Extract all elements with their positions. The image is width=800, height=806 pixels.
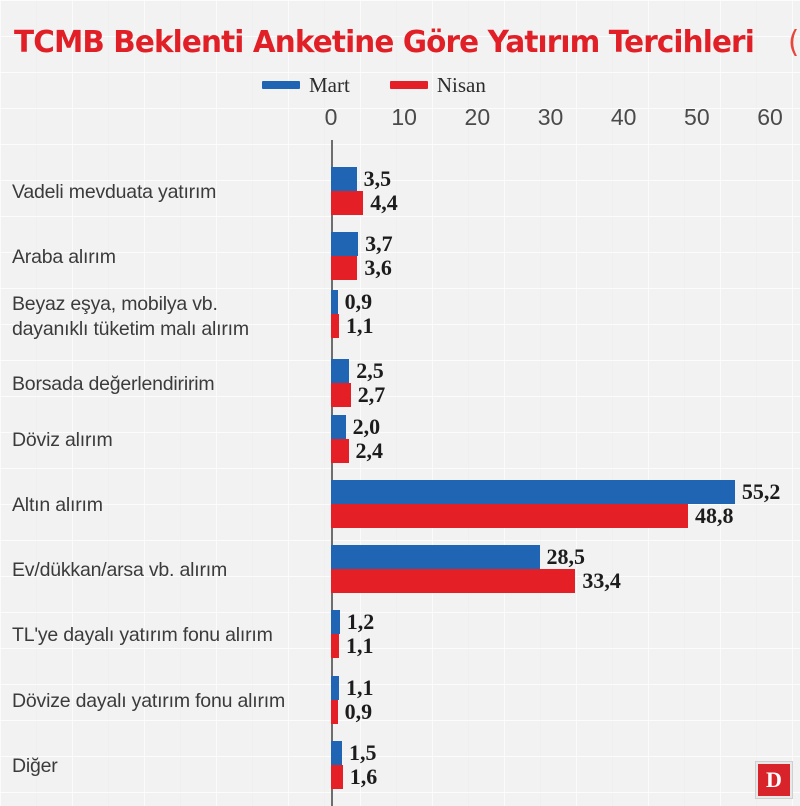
legend-item-nisan: Nisan: [390, 73, 486, 98]
category-label-line: Borsada değerlendiririm: [12, 372, 322, 397]
category-label: Beyaz eşya, mobilya vb.dayanıklı tüketim…: [12, 292, 322, 342]
page-title: TCMB Beklenti Anketine Göre Yatırım Terc…: [14, 25, 754, 60]
category-label: Araba alırım: [12, 245, 322, 270]
category-label: Ev/dükkan/arsa vb. alırım: [12, 558, 322, 583]
bar-nisan[interactable]: [331, 504, 688, 528]
bar-nisan[interactable]: [331, 383, 351, 407]
bar-group: 55,248,8: [331, 480, 780, 528]
category-label-line: Beyaz eşya, mobilya vb.: [12, 292, 322, 317]
bar-line-mart: 3,5: [331, 167, 398, 191]
category-label: Dövize dayalı yatırım fonu alırım: [12, 689, 322, 714]
chart-row: Araba alırım3,73,6: [0, 232, 800, 284]
chart-row: TL'ye dayalı yatırım fonu alırım1,21,1: [0, 610, 800, 662]
bar-nisan[interactable]: [331, 569, 575, 593]
bar-mart[interactable]: [331, 610, 340, 634]
category-label-line: Dövize dayalı yatırım fonu alırım: [12, 689, 322, 714]
legend-item-mart: Mart: [262, 73, 350, 98]
bar-line-nisan: 3,6: [331, 256, 393, 280]
bar-mart[interactable]: [331, 676, 339, 700]
bar-line-nisan: 2,4: [331, 439, 383, 463]
x-axis-tick-labels: 0102030405060: [0, 104, 800, 134]
x-tick-50: 50: [684, 104, 710, 131]
bar-value-mart: 2,5: [356, 358, 384, 384]
bar-group: 1,10,9: [331, 676, 374, 724]
category-label: Diğer: [12, 754, 322, 779]
bar-line-nisan: 1,1: [331, 314, 374, 338]
chart-row: Dövize dayalı yatırım fonu alırım1,10,9: [0, 676, 800, 728]
category-label: Döviz alırım: [12, 428, 322, 453]
x-tick-10: 10: [391, 104, 417, 131]
category-label-line: Vadeli mevduata yatırım: [12, 180, 322, 205]
x-tick-20: 20: [465, 104, 491, 131]
bar-nisan[interactable]: [331, 191, 363, 215]
bar-line-mart: 55,2: [331, 480, 780, 504]
bar-value-nisan: 3,6: [364, 255, 392, 281]
bar-line-nisan: 33,4: [331, 569, 621, 593]
bar-mart[interactable]: [331, 167, 357, 191]
bar-value-mart: 1,1: [346, 675, 374, 701]
chart-row: Ev/dükkan/arsa vb. alırım28,533,4: [0, 545, 800, 597]
x-tick-40: 40: [611, 104, 637, 131]
x-tick-0: 0: [325, 104, 338, 131]
bar-value-mart: 2,0: [353, 414, 381, 440]
bar-value-nisan: 2,4: [356, 438, 384, 464]
bar-nisan[interactable]: [331, 314, 339, 338]
bar-value-nisan: 2,7: [358, 382, 386, 408]
bar-line-nisan: 1,1: [331, 634, 374, 658]
bar-line-nisan: 48,8: [331, 504, 780, 528]
bar-mart[interactable]: [331, 290, 338, 314]
bar-group: 1,21,1: [331, 610, 374, 658]
bar-group: 0,91,1: [331, 290, 374, 338]
category-label-line: Döviz alırım: [12, 428, 322, 453]
bar-value-nisan: 0,9: [345, 699, 373, 725]
bar-value-mart: 3,5: [364, 166, 392, 192]
bar-mart[interactable]: [331, 741, 342, 765]
chart-row: Altın alırım55,248,8: [0, 480, 800, 532]
bar-line-mart: 1,5: [331, 741, 377, 765]
chart-row: Döviz alırım2,02,4: [0, 415, 800, 467]
bar-line-mart: 28,5: [331, 545, 621, 569]
bar-line-mart: 1,2: [331, 610, 374, 634]
bar-nisan[interactable]: [331, 700, 338, 724]
bar-nisan[interactable]: [331, 256, 357, 280]
category-label: Borsada değerlendiririm: [12, 372, 322, 397]
bar-value-mart: 28,5: [547, 544, 586, 570]
x-tick-30: 30: [538, 104, 564, 131]
legend-swatch-nisan: [390, 81, 428, 89]
chart-row: Borsada değerlendiririm2,52,7: [0, 359, 800, 411]
title-bar: TCMB Beklenti Anketine Göre Yatırım Terc…: [14, 18, 792, 66]
category-label: Vadeli mevduata yatırım: [12, 180, 322, 205]
bar-value-mart: 1,2: [347, 609, 375, 635]
bar-value-nisan: 1,1: [346, 633, 374, 659]
infographic-canvas: TCMB Beklenti Anketine Göre Yatırım Terc…: [0, 0, 800, 806]
bar-value-nisan: 4,4: [370, 190, 398, 216]
plot-area: 0102030405060 Vadeli mevduata yatırım3,5…: [0, 100, 800, 806]
bar-mart[interactable]: [331, 232, 358, 256]
legend-label-nisan: Nisan: [437, 73, 486, 98]
bar-line-nisan: 0,9: [331, 700, 374, 724]
bar-mart[interactable]: [331, 415, 346, 439]
bar-line-mart: 3,7: [331, 232, 393, 256]
bar-value-nisan: 33,4: [582, 568, 621, 594]
bar-group: 3,73,6: [331, 232, 393, 280]
bar-value-mart: 1,5: [349, 740, 377, 766]
category-label-line: Diğer: [12, 754, 322, 779]
bar-group: 2,02,4: [331, 415, 383, 463]
bar-group: 28,533,4: [331, 545, 621, 593]
bar-value-mart: 3,7: [365, 231, 393, 257]
category-label-line: Araba alırım: [12, 245, 322, 270]
bar-mart[interactable]: [331, 545, 540, 569]
bar-rows: Vadeli mevduata yatırım3,54,4Araba alırı…: [0, 140, 800, 806]
logo-letter: D: [766, 769, 782, 791]
bar-nisan[interactable]: [331, 439, 349, 463]
category-label-line: Altın alırım: [12, 493, 322, 518]
category-label-line: dayanıklı tüketim malı alırım: [12, 317, 322, 342]
title-unit: (%): [788, 25, 800, 60]
category-label: Altın alırım: [12, 493, 322, 518]
category-label-line: Ev/dükkan/arsa vb. alırım: [12, 558, 322, 583]
bar-group: 1,51,6: [331, 741, 377, 789]
bar-nisan[interactable]: [331, 634, 339, 658]
chart-row: Vadeli mevduata yatırım3,54,4: [0, 167, 800, 219]
category-label: TL'ye dayalı yatırım fonu alırım: [12, 623, 322, 648]
bar-line-nisan: 2,7: [331, 383, 385, 407]
bar-group: 3,54,4: [331, 167, 398, 215]
bar-line-nisan: 1,6: [331, 765, 377, 789]
chart-legend: MartNisan: [262, 72, 486, 98]
bar-value-mart: 55,2: [742, 479, 781, 505]
bar-line-mart: 1,1: [331, 676, 374, 700]
bar-value-nisan: 1,1: [346, 313, 374, 339]
bar-group: 2,52,7: [331, 359, 385, 407]
chart-row: Beyaz eşya, mobilya vb.dayanıklı tüketim…: [0, 290, 800, 342]
bar-line-nisan: 4,4: [331, 191, 398, 215]
bar-mart[interactable]: [331, 359, 349, 383]
bar-line-mart: 0,9: [331, 290, 374, 314]
chart-row: Diğer1,51,6: [0, 741, 800, 793]
legend-swatch-mart: [262, 81, 300, 89]
bar-value-nisan: 1,6: [350, 764, 378, 790]
legend-label-mart: Mart: [309, 73, 350, 98]
bar-line-mart: 2,0: [331, 415, 383, 439]
publisher-logo: D: [756, 762, 792, 798]
category-label-line: TL'ye dayalı yatırım fonu alırım: [12, 623, 322, 648]
bar-mart[interactable]: [331, 480, 735, 504]
x-tick-60: 60: [757, 104, 783, 131]
bar-value-mart: 0,9: [345, 289, 373, 315]
bar-value-nisan: 48,8: [695, 503, 734, 529]
bar-nisan[interactable]: [331, 765, 343, 789]
bar-line-mart: 2,5: [331, 359, 385, 383]
